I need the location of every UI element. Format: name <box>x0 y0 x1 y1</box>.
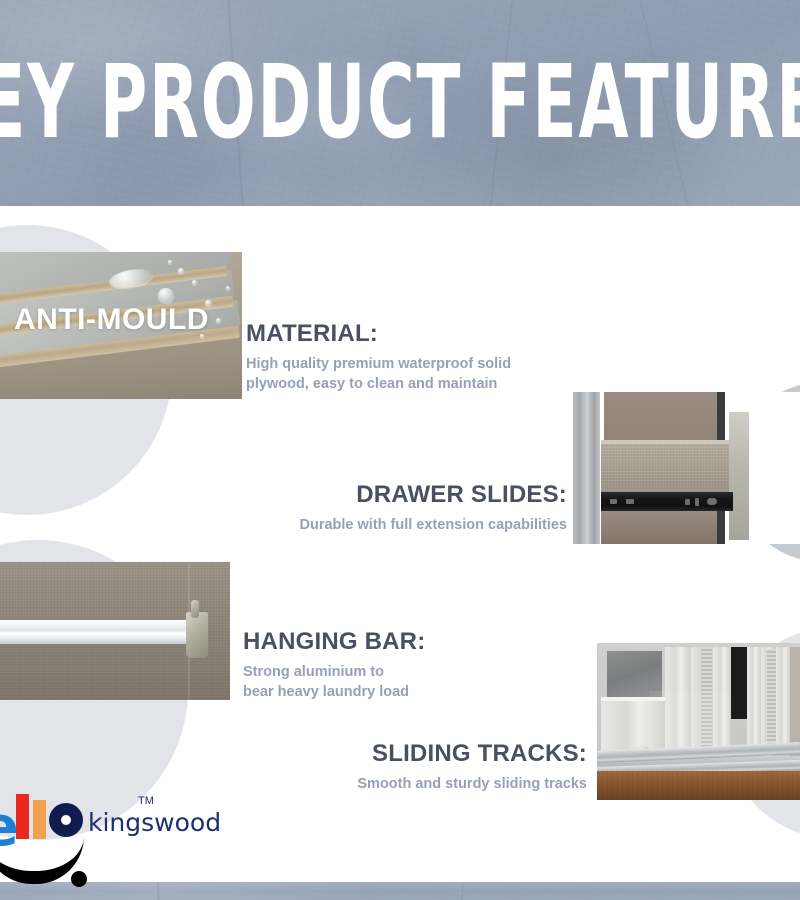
logo-trademark: TM <box>138 796 154 807</box>
header-band: KEY PRODUCT FEATURES <box>0 0 800 206</box>
water-droplet <box>178 268 184 274</box>
page-title: KEY PRODUCT FEATURES <box>0 52 800 153</box>
logo-wordmark: kingswood <box>88 810 221 835</box>
feature-text-sliding-tracks: SLIDING TRACKS: Smooth and sturdy slidin… <box>230 740 587 794</box>
feature-heading-material: MATERIAL: <box>246 320 576 348</box>
logo-bar-orange <box>33 800 46 839</box>
feature-heading-sliding-tracks: SLIDING TRACKS: <box>230 740 587 768</box>
anti-mould-label: ANTI-MOULD <box>14 303 209 337</box>
water-droplet <box>168 260 172 264</box>
feature-text-hanging-bar: HANGING BAR: Strong aluminium to bear he… <box>243 628 563 703</box>
feature-text-drawer-slides: DRAWER SLIDES: Durable with full extensi… <box>200 481 567 535</box>
feature-heading-hanging-bar: HANGING BAR: <box>243 628 563 656</box>
logo-letter-o <box>49 803 83 837</box>
water-droplet <box>226 286 230 290</box>
wood-plinth <box>597 771 800 800</box>
feature-body-material: High quality premium waterproof solid pl… <box>246 354 576 395</box>
water-droplet <box>158 288 174 303</box>
feature-image-sliding-tracks <box>597 643 800 800</box>
poster-root: KEY PRODUCT FEATURES ANTI-MOULD MATERIAL… <box>0 0 800 900</box>
logo-bar-red <box>16 794 29 839</box>
brand-logo[interactable]: e kingswood TM <box>0 790 222 870</box>
feature-body-hanging-bar: Strong aluminium to bear heavy laundry l… <box>243 662 563 703</box>
aluminium-rail <box>0 620 195 644</box>
water-droplet <box>192 280 197 285</box>
feature-body-drawer-slides: Durable with full extension capabilities <box>200 515 567 536</box>
feature-image-drawer-slides <box>573 392 800 544</box>
rail-bracket-screw <box>191 600 199 618</box>
rail-bracket <box>186 612 208 658</box>
feature-heading-drawer-slides: DRAWER SLIDES: <box>200 481 567 509</box>
feature-text-material: MATERIAL: High quality premium waterproo… <box>246 320 576 395</box>
feature-image-hanging-bar <box>0 562 230 700</box>
logo-smile-icon <box>0 836 84 884</box>
footer-band <box>0 882 800 900</box>
water-droplet <box>216 318 221 323</box>
feature-body-sliding-tracks: Smooth and sturdy sliding tracks <box>230 774 587 795</box>
logo-watermark <box>649 691 729 751</box>
